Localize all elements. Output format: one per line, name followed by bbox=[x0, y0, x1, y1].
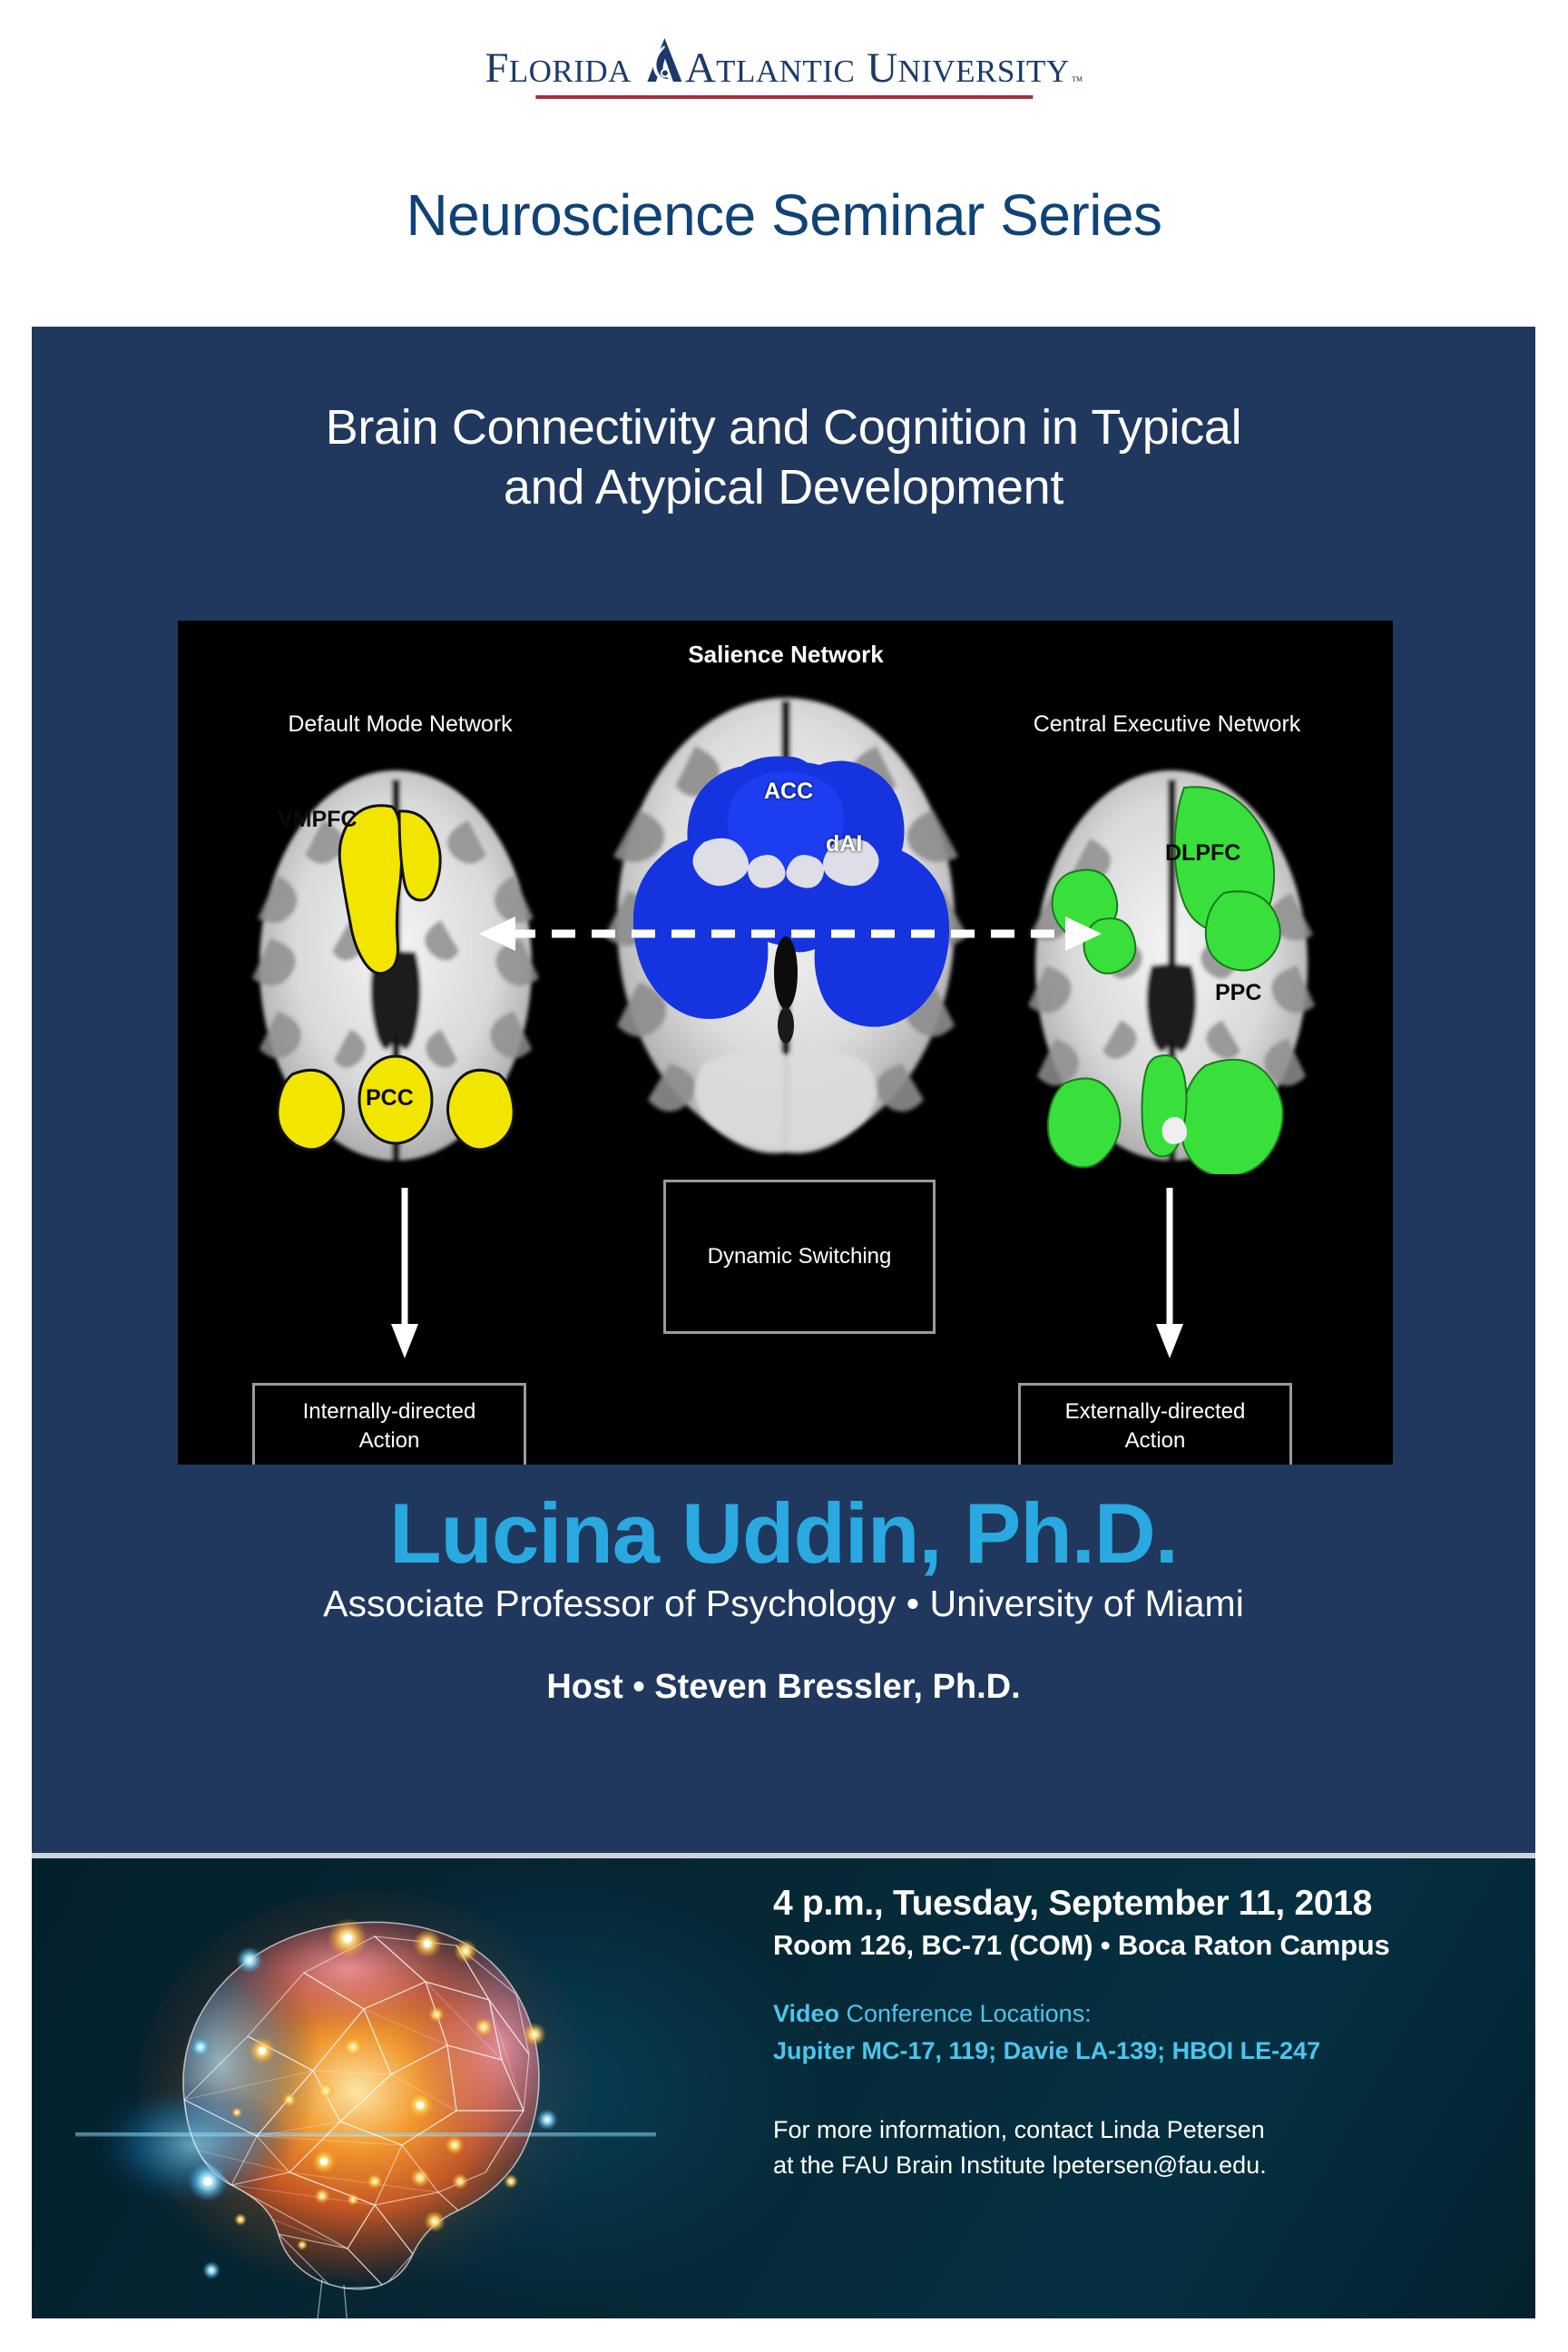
ppc-label: PPC bbox=[1215, 980, 1261, 1006]
internally-directed-line2: Action bbox=[303, 1426, 476, 1455]
talk-title-line1: Brain Connectivity and Cognition in Typi… bbox=[95, 397, 1472, 457]
video-conference-heading: Video Conference Locations: bbox=[773, 1996, 1499, 2032]
page-title: Neuroscience Seminar Series bbox=[0, 181, 1568, 249]
pcc-label: PCC bbox=[366, 1085, 414, 1112]
externally-directed-action-box: Externally-directed Action bbox=[1018, 1383, 1292, 1465]
logo-header: FLORIDA ATLANTICUNIVERSITY™ bbox=[0, 0, 1568, 122]
externally-directed-line1: Externally-directed bbox=[1065, 1397, 1246, 1426]
wordmark-lorida: LORIDA bbox=[509, 55, 632, 87]
internal-action-arrow bbox=[387, 1188, 423, 1360]
fau-wave-icon bbox=[644, 36, 684, 82]
wordmark-niversity: NIVERSITY bbox=[897, 55, 1069, 87]
contact-line-1: For more information, contact Linda Pete… bbox=[773, 2112, 1499, 2147]
internally-directed-action-box: Internally-directed Action bbox=[252, 1383, 526, 1465]
wordmark-u: U bbox=[867, 47, 897, 90]
acc-label: ACC bbox=[764, 779, 813, 805]
speaker-name: Lucina Uddin, Ph.D. bbox=[32, 1485, 1535, 1583]
internally-directed-line1: Internally-directed bbox=[303, 1397, 476, 1426]
event-details-panel: 4 p.m., Tuesday, September 11, 2018 Room… bbox=[32, 1858, 1535, 2318]
wordmark-a: A bbox=[685, 47, 716, 90]
event-datetime: 4 p.m., Tuesday, September 11, 2018 bbox=[773, 1884, 1499, 1924]
wordmark-tlantic: TLANTIC bbox=[716, 55, 855, 87]
host-line: Host • Steven Bressler, Ph.D. bbox=[32, 1668, 1535, 1707]
salience-network-title: Salience Network bbox=[559, 641, 1013, 669]
video-label: Video bbox=[773, 2000, 839, 2027]
default-mode-network-title: Default Mode Network bbox=[187, 711, 613, 738]
video-conference-block: Video Conference Locations: Jupiter MC-1… bbox=[773, 1996, 1499, 2069]
video-conference-rooms: Jupiter MC-17, 119; Davie LA-139; HBOI L… bbox=[773, 2033, 1499, 2069]
dai-label: dAI bbox=[826, 831, 862, 857]
dynamic-switching-arrow bbox=[477, 913, 1103, 955]
dlpfc-label: DLPFC bbox=[1165, 840, 1240, 867]
trademark-symbol: ™ bbox=[1072, 74, 1083, 86]
talk-title-line2: and Atypical Development bbox=[95, 457, 1472, 517]
logo-rule bbox=[535, 95, 1033, 99]
dmn-brain-slice bbox=[214, 757, 577, 1174]
video-conference-text: Conference Locations: bbox=[839, 2000, 1092, 2027]
contact-block: For more information, contact Linda Pete… bbox=[773, 2112, 1499, 2182]
polygonal-brain-illustration bbox=[75, 1873, 656, 2318]
dynamic-switching-box: Dynamic Switching bbox=[663, 1180, 936, 1334]
talk-title: Brain Connectivity and Cognition in Typi… bbox=[32, 397, 1535, 518]
fau-wordmark: FLORIDA ATLANTICUNIVERSITY™ bbox=[485, 36, 1083, 90]
external-action-arrow bbox=[1151, 1188, 1188, 1360]
cen-brain-slice bbox=[990, 757, 1353, 1174]
brain-network-figure: Salience Network Default Mode Network Ce… bbox=[178, 621, 1393, 1465]
externally-directed-line2: Action bbox=[1065, 1426, 1246, 1455]
wordmark-f: F bbox=[485, 47, 508, 90]
speaker-affiliation: Associate Professor of Psychology • Univ… bbox=[32, 1583, 1535, 1625]
vmpfc-label: VMPFC bbox=[278, 807, 358, 833]
event-location: Room 126, BC-71 (COM) • Boca Raton Campu… bbox=[773, 1929, 1499, 1962]
main-panel: Brain Connectivity and Cognition in Typi… bbox=[32, 327, 1535, 1853]
fau-logo: FLORIDA ATLANTICUNIVERSITY™ bbox=[485, 36, 1083, 99]
event-info: 4 p.m., Tuesday, September 11, 2018 Room… bbox=[773, 1884, 1499, 2182]
central-executive-network-title: Central Executive Network bbox=[949, 711, 1385, 738]
contact-line-2: at the FAU Brain Institute lpetersen@fau… bbox=[773, 2148, 1499, 2182]
